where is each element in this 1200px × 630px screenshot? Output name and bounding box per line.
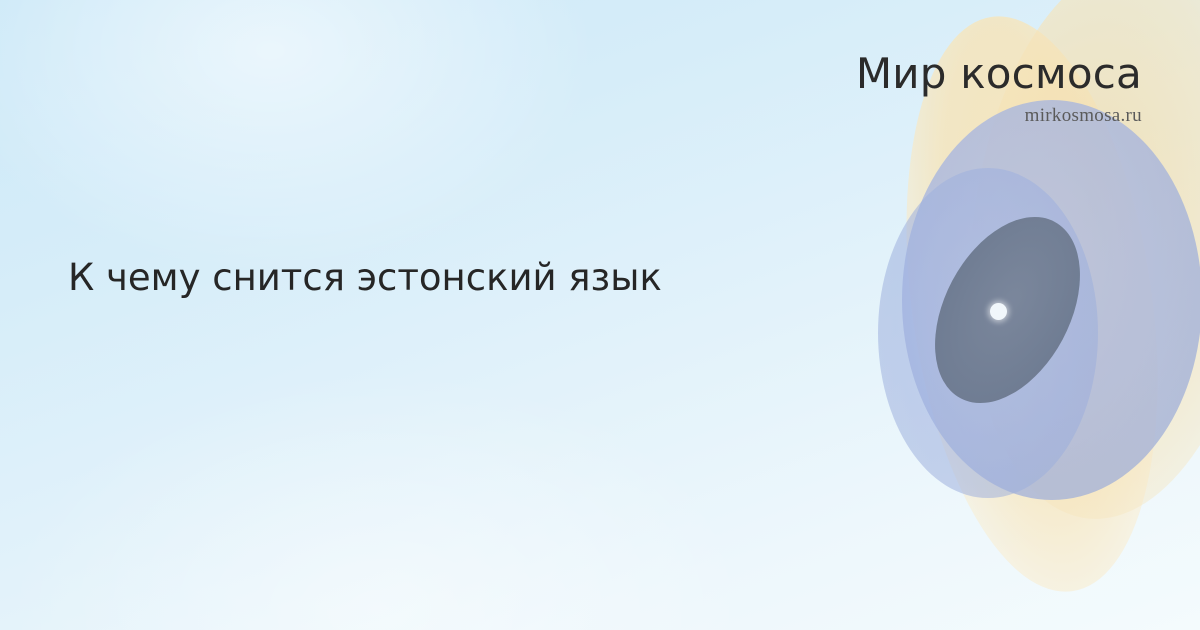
background-glow-top: [0, 0, 720, 360]
brand-block: Мир космоса mirkosmosa.ru: [856, 52, 1142, 127]
background-glow-bottom: [0, 290, 880, 630]
page-title: К чему снится эстонский язык: [68, 255, 662, 301]
site-url: mirkosmosa.ru: [856, 105, 1142, 127]
dark-core-icon: [905, 192, 1109, 427]
mid-sphere-icon: [878, 168, 1098, 498]
large-sphere-icon: [902, 100, 1200, 500]
bright-core-dot-icon: [990, 303, 1007, 320]
site-title: Мир космоса: [856, 52, 1142, 96]
article-share-banner: Мир космоса mirkosmosa.ru К чему снится …: [0, 0, 1200, 630]
